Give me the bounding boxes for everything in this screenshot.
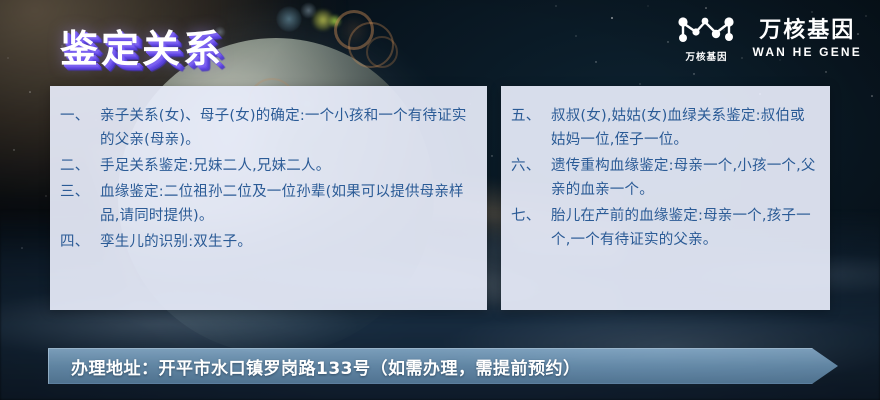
brand-logo: 万核基因 万核基因 WAN HE GENE — [674, 14, 862, 63]
list-item-number: 三、 — [60, 180, 100, 228]
logo-mark: 万核基因 — [674, 14, 738, 63]
list-item-number: 四、 — [60, 230, 100, 254]
address-bar-text: 办理地址：开平市水口镇罗岗路133号（如需办理，需提前预约） — [49, 354, 581, 379]
list-item: 六、 遗传重构血缘鉴定:母亲一个,小孩一个,父亲的血亲一个。 — [511, 154, 816, 202]
list-item-number: 二、 — [60, 154, 100, 178]
list-item-text: 胎儿在产前的血缘鉴定:母亲一个,孩子一个,一个有待证实的父亲。 — [551, 204, 816, 252]
list-item: 五、 叔叔(女),姑姑(女)血绿关系鉴定:叔伯或姑妈一位,侄子一位。 — [511, 104, 816, 152]
brand-wordmark: 万核基因 WAN HE GENE — [752, 19, 862, 58]
poster-root: 鉴定关系 — [0, 0, 880, 400]
brand-name-cn: 万核基因 — [759, 19, 855, 41]
list-item-text: 血缘鉴定:二位祖孙二位及一位孙辈(如果可以提供母亲样品,请同时提供)。 — [100, 180, 473, 228]
list-item-number: 六、 — [511, 154, 551, 202]
list-item-text: 手足关系鉴定:兄妹二人,兄妹二人。 — [100, 154, 473, 178]
brand-name-en: WAN HE GENE — [752, 46, 862, 58]
page-title: 鉴定关系 — [60, 18, 224, 73]
list-item-text: 叔叔(女),姑姑(女)血绿关系鉴定:叔伯或姑妈一位,侄子一位。 — [551, 104, 816, 152]
panel-right: 五、 叔叔(女),姑姑(女)血绿关系鉴定:叔伯或姑妈一位,侄子一位。 六、 遗传… — [501, 86, 830, 310]
list-item: 三、 血缘鉴定:二位祖孙二位及一位孙辈(如果可以提供母亲样品,请同时提供)。 — [60, 180, 473, 228]
list-item: 四、 孪生儿的识别:双生子。 — [60, 230, 473, 254]
panel-left: 一、 亲子关系(女)、母子(女)的确定:一个小孩和一个有待证实的父亲(母亲)。 … — [50, 86, 487, 310]
list-item-number: 一、 — [60, 104, 100, 152]
list-item: 二、 手足关系鉴定:兄妹二人,兄妹二人。 — [60, 154, 473, 178]
content-panels: 一、 亲子关系(女)、母子(女)的确定:一个小孩和一个有待证实的父亲(母亲)。 … — [50, 86, 830, 310]
list-item: 七、 胎儿在产前的血缘鉴定:母亲一个,孩子一个,一个有待证实的父亲。 — [511, 204, 816, 252]
list-item-text: 遗传重构血缘鉴定:母亲一个,小孩一个,父亲的血亲一个。 — [551, 154, 816, 202]
address-bar: 办理地址：开平市水口镇罗岗路133号（如需办理，需提前预约） — [48, 348, 838, 384]
list-item-text: 孪生儿的识别:双生子。 — [100, 230, 473, 254]
list-item-number: 七、 — [511, 204, 551, 252]
list-item-text: 亲子关系(女)、母子(女)的确定:一个小孩和一个有待证实的父亲(母亲)。 — [100, 104, 473, 152]
molecule-node-icon — [674, 14, 738, 46]
list-item: 一、 亲子关系(女)、母子(女)的确定:一个小孩和一个有待证实的父亲(母亲)。 — [60, 104, 473, 152]
logo-mark-label: 万核基因 — [685, 49, 727, 63]
list-item-number: 五、 — [511, 104, 551, 152]
